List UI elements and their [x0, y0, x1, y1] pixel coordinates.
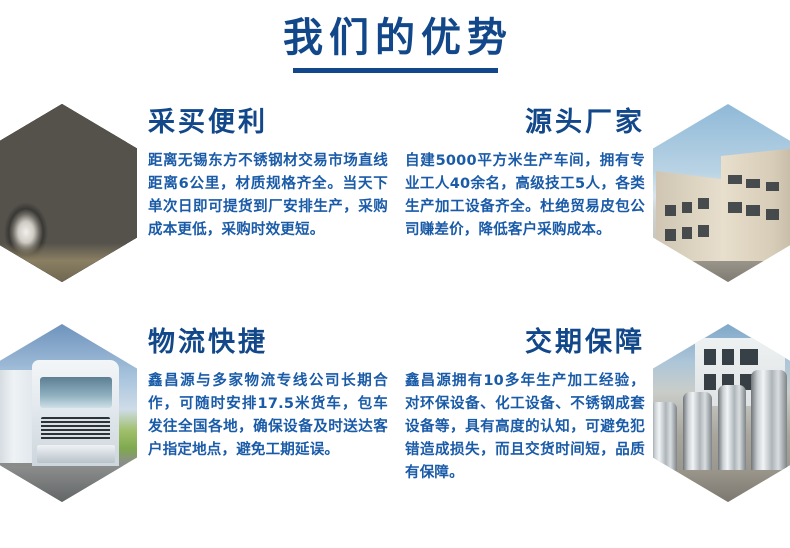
feature-text-procurement-convenience: 采买便利 距离无锡东方不锈钢材交易市场直线距离6公里，材质规格齐全。当天下单次日…: [148, 106, 388, 242]
building-window: [746, 179, 760, 188]
building-window: [728, 175, 742, 184]
feature-heading-source-manufacturer: 源头厂家: [405, 106, 645, 140]
building-window: [704, 349, 716, 365]
steel-coils-image: [0, 104, 137, 282]
feature-text-source-manufacturer: 源头厂家 自建5000平方米生产车间，拥有专业工人40余名，高级技工5人，各类生…: [405, 106, 645, 242]
truck-windshield: [40, 377, 112, 407]
truck-bumper: [37, 445, 115, 463]
feature-body-source-manufacturer: 自建5000平方米生产车间，拥有专业工人40余名，高级技工5人，各类生产加工设备…: [405, 150, 645, 242]
stainless-tanks-photo: [653, 324, 790, 502]
feature-heading-delivery-guarantee: 交期保障: [405, 326, 645, 360]
feature-heading-procurement-convenience: 采买便利: [148, 106, 388, 140]
feature-card-delivery-guarantee: 交期保障 鑫昌源拥有10多年生产加工经验，对环保设备、化工设备、不锈钢成套设备等…: [395, 312, 790, 527]
building-window: [698, 225, 709, 237]
building-window: [665, 229, 676, 241]
building-left-facade: [656, 171, 721, 271]
feature-card-source-manufacturer: 源头厂家 自建5000平方米生产车间，拥有专业工人40余名，高级技工5人，各类生…: [395, 92, 790, 307]
steel-coils-photo: [0, 104, 137, 282]
page-title-section: 我们的优势: [0, 14, 790, 73]
building-window: [704, 374, 716, 390]
factory-building-photo: [653, 104, 790, 282]
building-window: [682, 202, 693, 213]
factory-building-image: [653, 104, 790, 282]
road-surface: [0, 466, 137, 502]
building-ground: [653, 261, 790, 282]
cargo-truck-photo: [0, 324, 137, 502]
stainless-tank: [718, 385, 747, 474]
building-window: [728, 202, 742, 213]
building-window: [722, 349, 734, 365]
building-window: [766, 182, 780, 191]
stainless-tank: [683, 392, 712, 474]
advantages-page: 我们的优势 采买便利 距离无锡东方不锈钢材交易市场直线距离6公里，材质规格齐全。…: [0, 0, 790, 548]
feature-body-procurement-convenience: 距离无锡东方不锈钢材交易市场直线距离6公里，材质规格齐全。当天下单次日即可提货到…: [148, 150, 388, 242]
features-grid: 采买便利 距离无锡东方不锈钢材交易市场直线距离6公里，材质规格齐全。当天下单次日…: [0, 92, 790, 548]
feature-card-procurement-convenience: 采买便利 距离无锡东方不锈钢材交易市场直线距离6公里，材质规格齐全。当天下单次日…: [0, 92, 395, 307]
feature-body-fast-logistics: 鑫昌源与多家物流专线公司长期合作，可随时安排17.5米货车，包车发往全国各地，确…: [148, 370, 388, 462]
building-window: [682, 227, 693, 239]
page-title: 我们的优势: [0, 14, 790, 62]
feature-heading-fast-logistics: 物流快捷: [148, 326, 388, 360]
tanks-ground: [653, 470, 790, 502]
title-underline-rule: [293, 68, 498, 73]
building-window: [665, 205, 676, 216]
building-window: [698, 198, 709, 209]
feature-body-delivery-guarantee: 鑫昌源拥有10多年生产加工经验，对环保设备、化工设备、不锈钢成套设备等，具有高度…: [405, 370, 645, 485]
stainless-tank: [653, 402, 677, 473]
feature-text-delivery-guarantee: 交期保障 鑫昌源拥有10多年生产加工经验，对环保设备、化工设备、不锈钢成套设备等…: [405, 326, 645, 485]
feature-text-fast-logistics: 物流快捷 鑫昌源与多家物流专线公司长期合作，可随时安排17.5米货车，包车发往全…: [148, 326, 388, 462]
building-window: [740, 349, 758, 365]
feature-card-fast-logistics: 物流快捷 鑫昌源与多家物流专线公司长期合作，可随时安排17.5米货车，包车发往全…: [0, 312, 395, 527]
cargo-truck-image: [0, 324, 137, 502]
building-window: [766, 209, 780, 220]
stainless-tanks-image: [653, 324, 790, 502]
building-window: [746, 205, 760, 216]
stainless-tank: [751, 370, 787, 473]
truck-grille: [41, 417, 110, 440]
